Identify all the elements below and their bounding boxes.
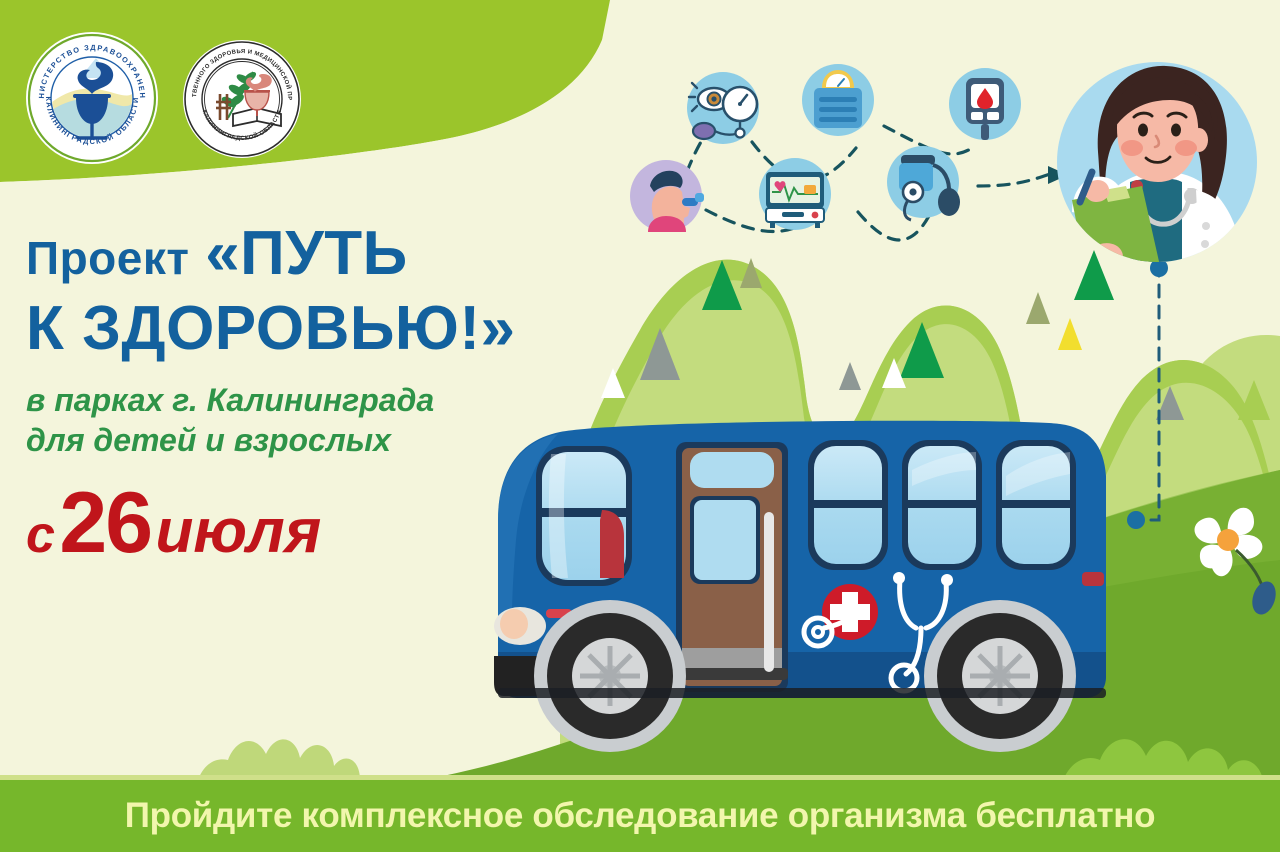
bus-tail-light	[1082, 572, 1104, 586]
bus-wheel-rear	[924, 600, 1076, 752]
bottom-banner: Пройдите комплексное обследование органи…	[0, 780, 1280, 852]
title-k-zdorovyu: К ЗДОРОВЬЮ!	[26, 294, 481, 363]
subtitle-line-two: для детей и взрослых	[26, 420, 666, 460]
quote-close: »	[481, 294, 516, 363]
bus-wheel-front	[534, 600, 686, 752]
poster-canvas: МИНИСТЕРСТВО ЗДРАВООХРАНЕНИЯ КАЛИНИНГРАД…	[0, 0, 1280, 852]
title-line-two: К ЗДОРОВЬЮ!»	[26, 292, 666, 366]
path-end-dot	[1127, 511, 1145, 529]
quote-open: «	[205, 219, 240, 288]
bus-door	[676, 442, 788, 692]
date-line: с 26 июля	[26, 480, 666, 566]
word-project: Проект	[26, 232, 189, 284]
title-line-one: Проект «ПУТЬ	[26, 222, 666, 290]
banner-text: Пройдите комплексное обследование органи…	[125, 796, 1155, 836]
eye-exam-icon	[687, 72, 759, 144]
logo-center-public-health: ЦЕНТР ОБЩЕСТВЕННОГО ЗДОРОВЬЯ И МЕДИЦИНСК…	[183, 40, 301, 158]
ecg-monitor-icon	[759, 158, 831, 230]
stethoscope-ear-left	[893, 572, 905, 584]
logo-ministry-of-health: МИНИСТЕРСТВО ЗДРАВООХРАНЕНИЯ КАЛИНИНГРАД…	[26, 32, 158, 164]
title-put: ПУТЬ	[240, 219, 408, 288]
date-prefix: с	[26, 506, 55, 564]
bus-side-windows	[808, 440, 1076, 570]
clipboard-report-icon	[802, 64, 874, 136]
date-month: июля	[156, 497, 322, 566]
subtitle-line-one: в парках г. Калининграда	[26, 380, 666, 420]
date-number: 26	[59, 475, 151, 571]
stethoscope-ear-right	[941, 574, 953, 586]
headline-block: Проект «ПУТЬ К ЗДОРОВЬЮ!» в парках г. Ка…	[26, 222, 666, 566]
subtitle-block: в парках г. Калининграда для детей и взр…	[26, 380, 666, 460]
glucometer-icon	[949, 68, 1021, 140]
